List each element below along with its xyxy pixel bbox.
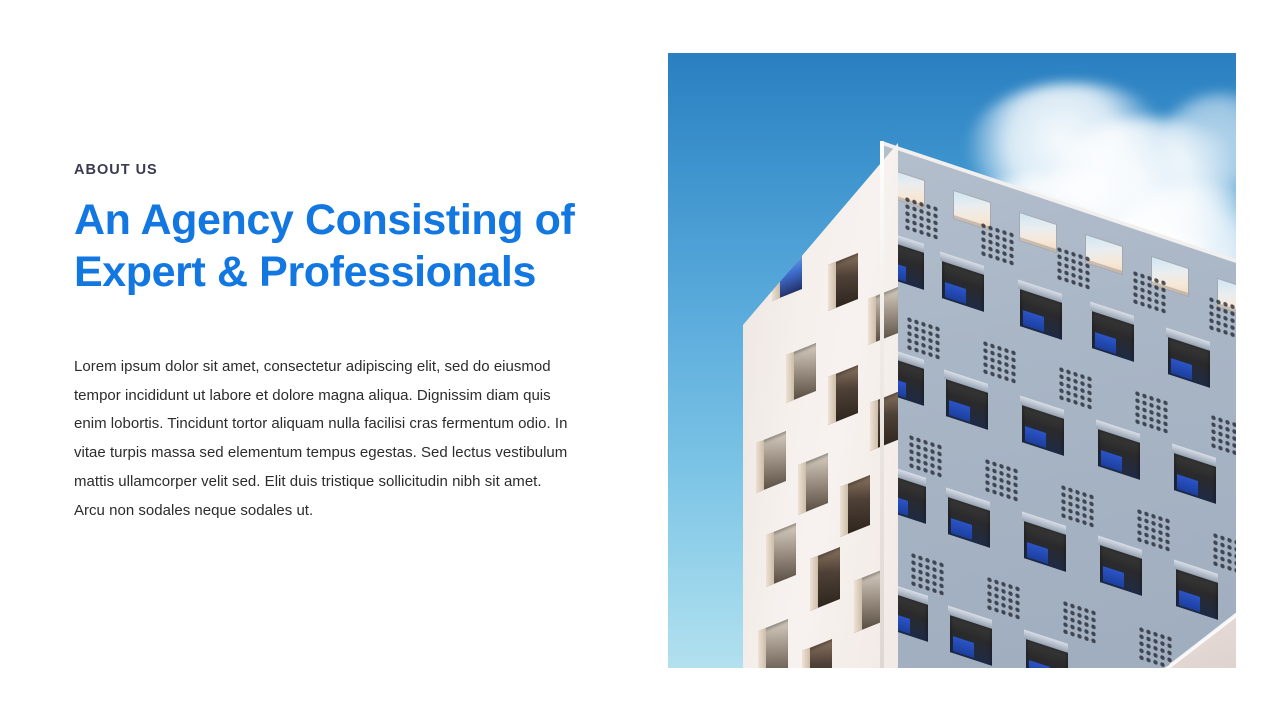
- breeze-block-grille: [904, 195, 940, 241]
- building-photo: [668, 53, 1236, 668]
- breeze-block-grille: [980, 221, 1016, 267]
- slide-about-us: ABOUT US An Agency Consisting of Expert …: [0, 0, 1280, 720]
- breeze-block-grille: [1138, 625, 1174, 668]
- window-recessed: [1020, 286, 1062, 340]
- window-hood: [1018, 280, 1062, 303]
- body-paragraph: Lorem ipsum dolor sit amet, consectetur …: [74, 353, 569, 525]
- breeze-block-grille: [910, 551, 946, 597]
- window-recessed: [1168, 334, 1210, 388]
- window-recessed: [1174, 450, 1216, 504]
- window-recessed: [1092, 308, 1134, 362]
- window-recessed: [1026, 636, 1068, 668]
- breeze-block-grille: [1134, 389, 1170, 435]
- breeze-block-grille: [1058, 365, 1094, 411]
- window-recessed: [1176, 566, 1218, 620]
- building-corner-edge: [880, 141, 884, 668]
- window-hood: [1166, 328, 1210, 351]
- window-recessed: [950, 612, 992, 666]
- breeze-block-grille: [906, 315, 942, 361]
- breeze-block-grille: [984, 457, 1020, 503]
- breeze-block-grille: [1062, 599, 1098, 645]
- breeze-block-grille: [1212, 531, 1236, 577]
- window-recessed: [1100, 542, 1142, 596]
- breeze-block-grille: [1210, 413, 1236, 459]
- breeze-block-grille: [1136, 507, 1172, 553]
- window-recessed: [942, 258, 984, 312]
- breeze-block-grille: [1060, 483, 1096, 529]
- page-title: An Agency Consisting of Expert & Profess…: [74, 194, 614, 298]
- text-column: ABOUT US An Agency Consisting of Expert …: [74, 160, 594, 298]
- window-bright: [1020, 213, 1056, 252]
- headline-line-2: Expert & Professionals: [74, 246, 614, 298]
- breeze-block-grille: [908, 433, 944, 479]
- window-recessed: [1022, 402, 1064, 456]
- headline-line-1: An Agency Consisting of: [74, 194, 614, 246]
- window-recessed: [948, 494, 990, 548]
- window-recessed: [946, 376, 988, 430]
- section-eyebrow-label: ABOUT US: [74, 160, 594, 180]
- window-recessed: [1024, 518, 1066, 572]
- window-recessed: [1098, 426, 1140, 480]
- window-hood: [1090, 302, 1134, 325]
- breeze-block-grille: [982, 339, 1018, 385]
- breeze-block-grille: [1208, 295, 1236, 341]
- window-hood: [940, 252, 984, 275]
- breeze-block-grille: [986, 575, 1022, 621]
